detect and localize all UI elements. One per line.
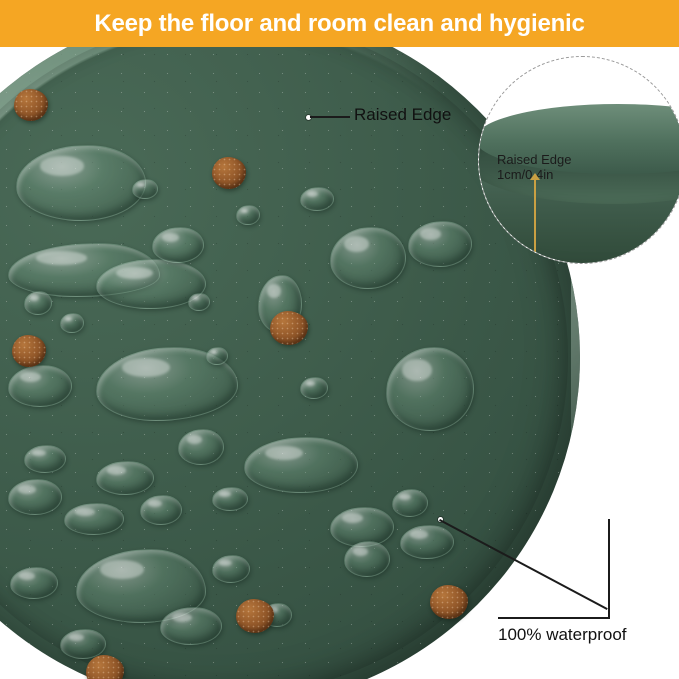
raised-edge-leader-line xyxy=(310,116,350,118)
waterproof-leader-line-vertical xyxy=(608,519,610,618)
water-droplet xyxy=(24,445,66,473)
waterproof-leader-line-horizontal xyxy=(498,617,610,619)
water-droplet xyxy=(212,487,248,511)
raised-edge-callout-label: Raised Edge xyxy=(354,105,451,125)
waterproof-callout-label: 100% waterproof xyxy=(498,625,627,645)
product-photo: Raised Edge 100% waterproof Raised Edge … xyxy=(0,47,679,679)
water-droplet xyxy=(212,555,250,583)
water-droplet xyxy=(206,347,228,365)
water-droplet xyxy=(244,437,358,493)
water-droplet xyxy=(8,365,72,407)
water-droplet xyxy=(140,495,182,525)
water-droplet xyxy=(64,503,124,535)
water-droplet xyxy=(8,479,62,515)
raised-edge-inset-circle: Raised Edge 1cm/0.4in xyxy=(478,56,679,264)
water-droplet xyxy=(132,179,158,199)
water-droplet xyxy=(400,525,454,559)
arrow-head-up-icon xyxy=(530,173,540,180)
water-droplet xyxy=(24,291,52,315)
water-droplet xyxy=(392,489,428,517)
water-droplet xyxy=(10,567,58,599)
water-droplet xyxy=(152,227,204,263)
inset-caption-title: Raised Edge xyxy=(497,152,571,167)
water-droplet xyxy=(330,227,406,289)
water-droplet xyxy=(178,429,224,465)
water-droplet xyxy=(60,313,84,333)
water-droplet xyxy=(236,205,260,225)
product-feature-image: Keep the floor and room clean and hygien… xyxy=(0,0,679,679)
water-droplet xyxy=(300,187,334,211)
water-droplet xyxy=(96,461,154,495)
water-droplet xyxy=(160,607,222,645)
water-droplet xyxy=(344,541,390,577)
water-droplet xyxy=(300,377,328,399)
water-droplet xyxy=(188,293,210,311)
water-droplet xyxy=(408,221,472,267)
header-title: Keep the floor and room clean and hygien… xyxy=(0,0,679,47)
water-droplet xyxy=(386,347,474,431)
inset-measure-arrow xyxy=(534,179,536,264)
header-banner: Keep the floor and room clean and hygien… xyxy=(0,0,679,47)
